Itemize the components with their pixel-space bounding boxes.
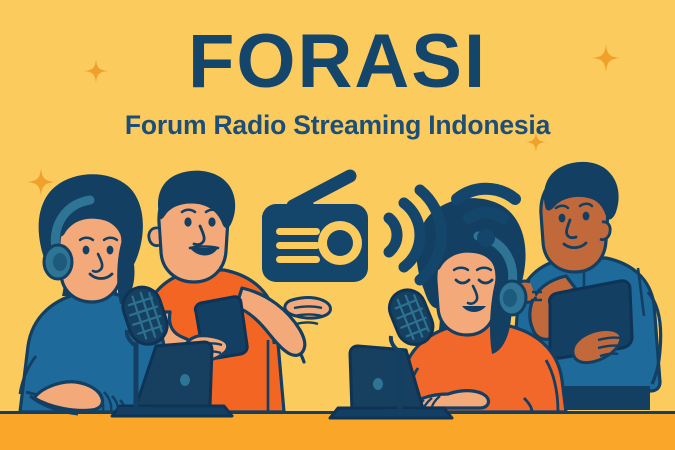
sound-waves-icon [389, 190, 441, 280]
poster-canvas: FORASI Forum Radio Streaming Indonesia [0, 0, 675, 450]
page-title: FORASI [0, 24, 675, 100]
radio-icon [262, 176, 368, 282]
title-block: FORASI Forum Radio Streaming Indonesia [0, 24, 675, 139]
wifi-icon [457, 189, 515, 247]
page-subtitle: Forum Radio Streaming Indonesia [0, 112, 675, 139]
